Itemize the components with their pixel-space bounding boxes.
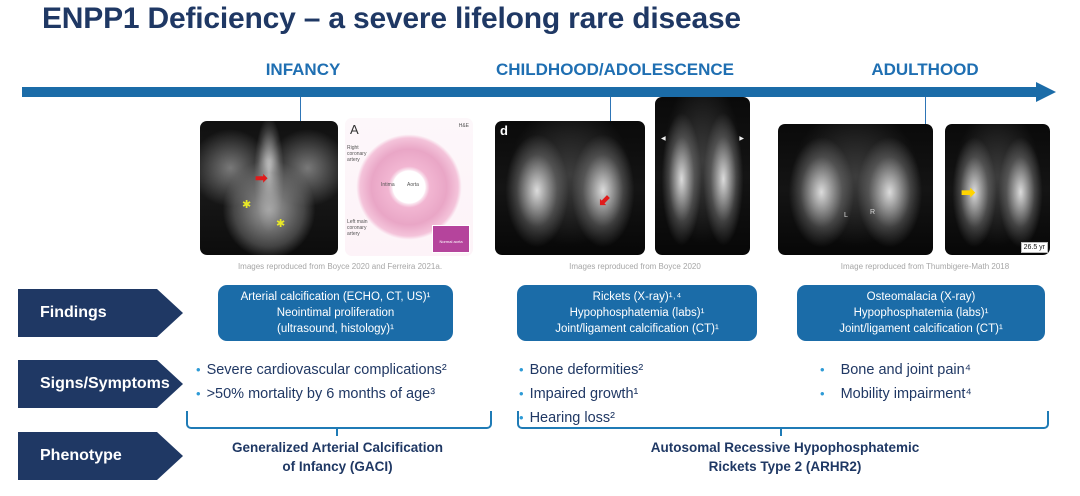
list-item: • Mobility impairment⁴ xyxy=(820,382,972,406)
findings-line: Hypophosphatemia (labs)¹ xyxy=(805,305,1037,321)
feet-xray-panel-letter: d xyxy=(500,123,508,138)
bullet-icon: • xyxy=(196,358,201,381)
timeline-arrowhead-icon xyxy=(1036,82,1056,102)
intima-label: Intima xyxy=(381,183,395,189)
list-item: • Bone and joint pain⁴ xyxy=(820,358,972,382)
bullet-icon: • xyxy=(820,382,825,405)
timeline-stage-childhood: CHILDHOOD/ADOLESCENCE xyxy=(470,60,760,80)
leg-marker-left: L xyxy=(844,212,848,219)
symptom-text: >50% mortality by 6 months of age³ xyxy=(207,383,436,406)
timeline-bar xyxy=(22,87,1042,97)
findings-pill-infancy: Arterial calcification (ECHO, CT, US)¹ N… xyxy=(218,285,453,341)
row-label-phenotype: Phenotype xyxy=(18,432,183,480)
bullet-icon: • xyxy=(519,358,524,381)
timeline-stage-infancy: INFANCY xyxy=(238,60,368,80)
list-item: • Bone deformities² xyxy=(519,358,643,382)
findings-line: Rickets (X-ray)¹˒⁴ xyxy=(525,289,749,305)
symptom-text: Bone deformities² xyxy=(530,359,644,382)
list-item: • Severe cardiovascular complications² xyxy=(196,358,447,382)
child-knees-xray-image: ◀ ▶ xyxy=(655,97,750,255)
phenotype-arhr2: Autosomal Recessive Hypophosphatemic Ric… xyxy=(600,438,970,476)
row-label-signs-symptoms: Signs/Symptoms xyxy=(18,360,183,408)
phenotype-gaci: Generalized Arterial Calcification of In… xyxy=(205,438,470,476)
image-caption-infancy: Images reproduced from Boyce 2020 and Fe… xyxy=(195,262,485,271)
list-item: • >50% mortality by 6 months of age³ xyxy=(196,382,447,406)
brace-arhr2 xyxy=(517,411,1049,429)
brace-stem-gaci xyxy=(336,427,338,436)
image-caption-childhood: Images reproduced from Boyce 2020 xyxy=(510,262,760,271)
cervical-spine-xray-image: ➡ 26.5 yr xyxy=(945,124,1050,255)
symptom-list-adulthood: • Bone and joint pain⁴ • Mobility impair… xyxy=(820,358,972,406)
brace-stem-arhr2 xyxy=(780,427,782,436)
symptom-list-infancy: • Severe cardiovascular complications² •… xyxy=(196,358,447,406)
timeline-stage-adulthood: ADULTHOOD xyxy=(850,60,1000,80)
findings-pill-childhood: Rickets (X-ray)¹˒⁴ Hypophosphatemia (lab… xyxy=(517,285,757,341)
symptom-text: Bone and joint pain⁴ xyxy=(841,359,971,382)
symptom-text: Mobility impairment⁴ xyxy=(841,383,972,406)
findings-line: Joint/ligament calcification (CT)¹ xyxy=(525,321,749,337)
findings-line: Neointimal proliferation xyxy=(226,305,445,321)
histology-panel-letter: A xyxy=(350,122,359,137)
infant-feet-xray-image: d ➡ xyxy=(495,121,645,255)
age-badge: 26.5 yr xyxy=(1021,242,1048,253)
row-label-findings: Findings xyxy=(18,289,183,337)
page-title: ENPP1 Deficiency – a severe lifelong rar… xyxy=(42,2,741,36)
knee-marker-left: ◀ xyxy=(661,135,666,142)
findings-line: Joint/ligament calcification (CT)¹ xyxy=(805,321,1037,337)
findings-line: Osteomalacia (X-ray) xyxy=(805,289,1037,305)
knee-marker-right: ▶ xyxy=(739,135,744,142)
bullet-icon: • xyxy=(196,382,201,405)
yellow-star-icon-2: ✱ xyxy=(276,219,285,230)
adult-legs-xray-image: L R xyxy=(778,124,933,255)
left-main-coronary-artery-label: Left main coronary artery xyxy=(347,220,368,237)
findings-pill-adulthood: Osteomalacia (X-ray) Hypophosphatemia (l… xyxy=(797,285,1045,341)
leg-marker-right: R xyxy=(870,209,875,216)
yellow-arrow-icon: ➡ xyxy=(961,184,975,201)
right-coronary-artery-label: Right coronary artery xyxy=(347,146,366,163)
yellow-star-icon-1: ✱ xyxy=(242,200,251,211)
findings-line: Hypophosphatemia (labs)¹ xyxy=(525,305,749,321)
histology-stain-label: H&E xyxy=(459,124,469,130)
findings-line: (ultrasound, histology)¹ xyxy=(226,321,445,337)
image-caption-adulthood: Image reproduced from Thumbigere-Math 20… xyxy=(790,262,1060,271)
bullet-icon: • xyxy=(519,382,524,405)
bullet-icon: • xyxy=(820,358,825,381)
slide-root: ENPP1 Deficiency – a severe lifelong rar… xyxy=(0,0,1080,496)
brace-gaci xyxy=(186,411,492,429)
aorta-histology-image: A H&E Right coronary artery Left main co… xyxy=(345,118,473,256)
infant-chest-ct-image: ➡ ✱ ✱ xyxy=(200,121,338,255)
findings-line: Arterial calcification (ECHO, CT, US)¹ xyxy=(226,289,445,305)
aorta-label: Aorta xyxy=(407,183,419,189)
list-item: • Impaired growth¹ xyxy=(519,382,643,406)
red-arrow-icon: ➡ xyxy=(595,191,615,211)
symptom-text: Severe cardiovascular complications² xyxy=(207,359,447,382)
red-arrow-icon: ➡ xyxy=(255,171,268,186)
symptom-text: Impaired growth¹ xyxy=(530,383,639,406)
normal-aorta-inset: Normal aorta xyxy=(432,225,470,253)
